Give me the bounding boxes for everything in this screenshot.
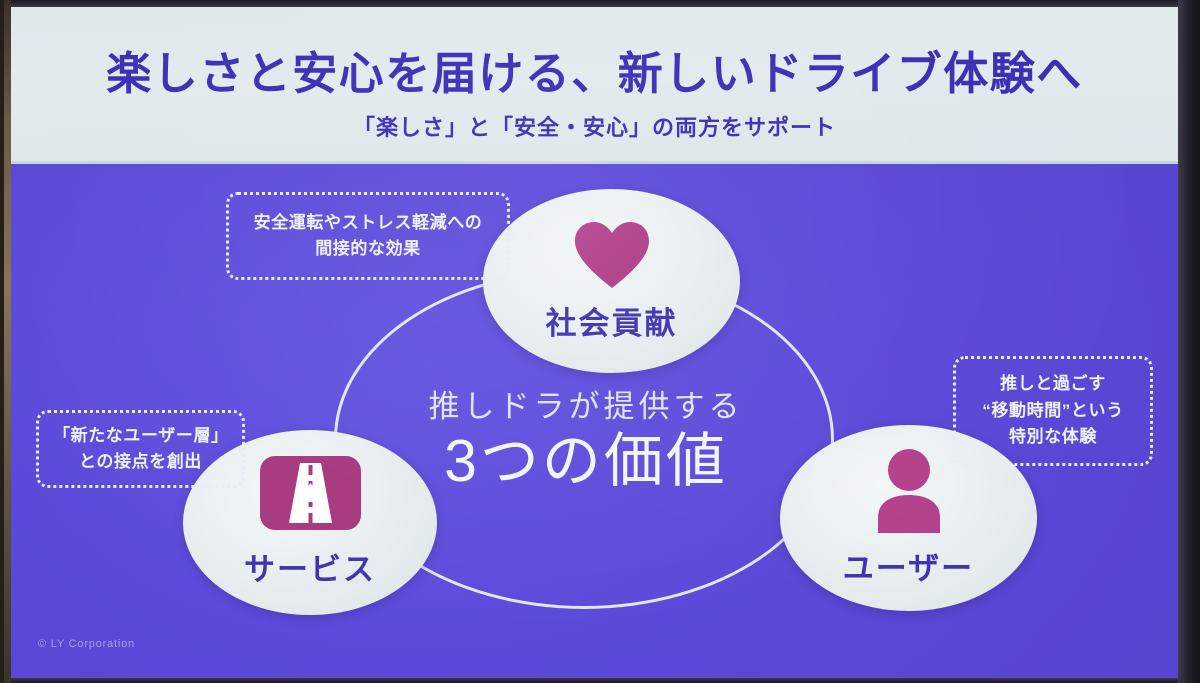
- center-value-label: 推しドラが提供する 3つの価値: [411, 390, 761, 496]
- callout-service-line1: 「新たなユーザー層」: [53, 423, 228, 449]
- page-subtitle: 「楽しさ」と「安全・安心」の両方をサポート: [11, 110, 1178, 142]
- heart-icon: [573, 220, 651, 290]
- callout-service-line2: との接点を創出: [53, 449, 228, 475]
- slide-body: 推しドラが提供する 3つの価値 社会貢献: [11, 164, 1178, 678]
- center-eyebrow: 推しドラが提供する: [411, 390, 761, 424]
- photo-edge-top: [11, 0, 1178, 7]
- photo-edge-left-dark: [0, 0, 4, 683]
- value-node-service-label: サービス: [244, 544, 376, 589]
- photo-edge-right: [1178, 0, 1200, 683]
- copyright-notice: © LY Corporation: [38, 638, 135, 650]
- callout-user: 推しと過ごす “移動時間”という 特別な体験: [953, 356, 1153, 466]
- photo-edge-bottom: [11, 678, 1178, 683]
- callout-service: 「新たなユーザー層」 との接点を創出: [36, 410, 245, 488]
- callout-social-line1: 安全運転やストレス軽減への: [254, 210, 483, 236]
- page-title: 楽しさと安心を届ける、新しいドライブ体験へ: [11, 37, 1178, 102]
- center-headline: 3つの価値: [411, 428, 761, 496]
- callout-social: 安全運転やストレス軽減への 間接的な効果: [226, 192, 510, 280]
- callout-user-line1: 推しと過ごす: [982, 371, 1123, 397]
- road-icon: [260, 456, 361, 530]
- value-node-social[interactable]: 社会貢献: [483, 189, 740, 373]
- slide-header: 楽しさと安心を届ける、新しいドライブ体験へ 「楽しさ」と「安全・安心」の両方をサ…: [11, 7, 1178, 164]
- value-node-user-label: ユーザー: [843, 543, 974, 588]
- callout-user-line2: “移動時間”という: [982, 398, 1123, 424]
- value-node-social-label: 社会貢献: [546, 298, 678, 343]
- callout-social-line2: 間接的な効果: [254, 236, 483, 262]
- slide-photo: 楽しさと安心を届ける、新しいドライブ体験へ 「楽しさ」と「安全・安心」の両方をサ…: [0, 0, 1200, 683]
- callout-user-line3: 特別な体験: [982, 424, 1123, 450]
- person-icon: [873, 449, 945, 533]
